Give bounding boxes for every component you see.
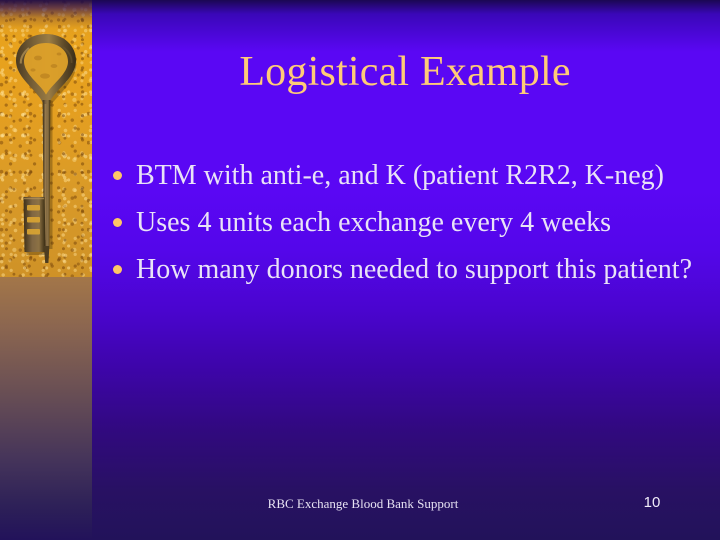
slide-body: BTM with anti-e, and K (patient R2R2, K-… (108, 158, 708, 299)
bullet-dot-icon (113, 171, 122, 180)
page-title: Logistical Example (110, 48, 700, 96)
slide-footer: RBC Exchange Blood Bank Support (113, 495, 613, 512)
bullet-dot-icon (113, 218, 122, 227)
list-item: Uses 4 units each exchange every 4 weeks (108, 205, 708, 240)
list-item-label: Uses 4 units each exchange every 4 weeks (136, 205, 708, 240)
list-item-label: How many donors needed to support this p… (136, 252, 708, 287)
list-item: How many donors needed to support this p… (108, 252, 708, 287)
antique-key-photo (0, 0, 92, 277)
bullet-dot-icon (113, 265, 122, 274)
key-icon (0, 0, 92, 277)
list-item: BTM with anti-e, and K (patient R2R2, K-… (108, 158, 708, 193)
list-item-label: BTM with anti-e, and K (patient R2R2, K-… (136, 158, 708, 193)
presentation-slide: Logistical Example BTM with anti-e, and … (0, 0, 720, 540)
page-number: 10 (612, 494, 692, 512)
left-decoration-strip (0, 0, 92, 540)
